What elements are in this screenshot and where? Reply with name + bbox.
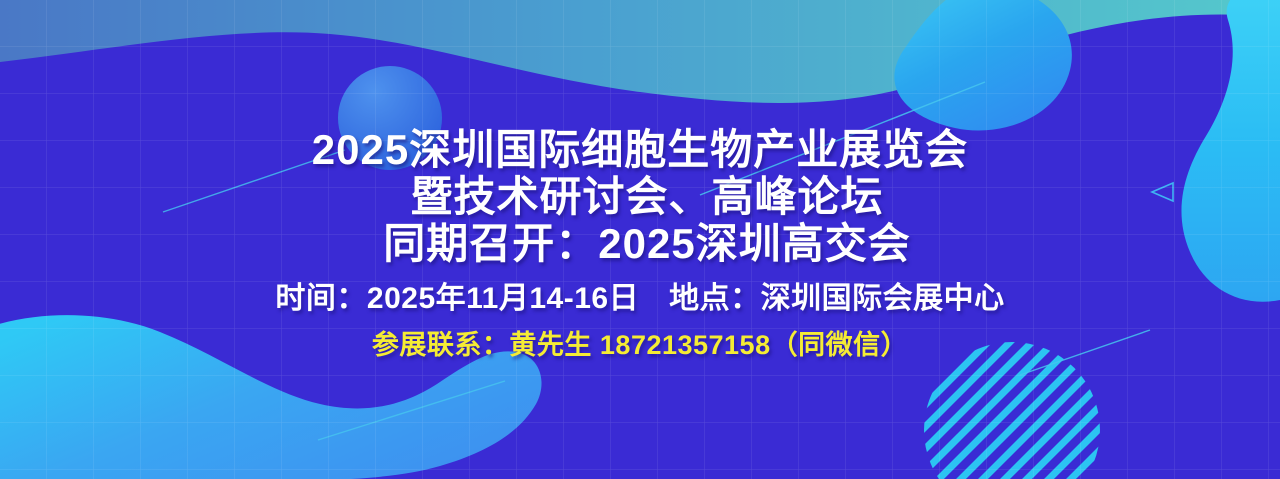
contact-line: 参展联系：黄先生 18721357158（同微信）	[372, 329, 908, 361]
venue-value: 深圳国际会展中心	[761, 282, 1005, 315]
title-block: 2025深圳国际细胞生物产业展览会 暨技术研讨会、高峰论坛 同期召开：2025深…	[0, 126, 1280, 267]
title-line-2: 暨技术研讨会、高峰论坛	[0, 173, 1280, 220]
contact-person: 黄先生	[509, 330, 592, 360]
contact-label: 参展联系：	[372, 330, 510, 360]
time-label: 时间：	[275, 282, 367, 315]
title-line-3: 同期召开：2025深圳高交会	[0, 220, 1280, 267]
event-meta-line: 时间：2025年11月14-16日地点：深圳国际会展中心	[275, 281, 1004, 317]
time-value: 2025年11月14-16日	[367, 282, 639, 315]
event-banner: 2025深圳国际细胞生物产业展览会 暨技术研讨会、高峰论坛 同期召开：2025深…	[0, 0, 1280, 479]
contact-space	[592, 330, 600, 360]
contact-phone: 18721357158	[600, 330, 771, 360]
banner-content: 2025深圳国际细胞生物产业展览会 暨技术研讨会、高峰论坛 同期召开：2025深…	[0, 0, 1280, 479]
title-line-1: 2025深圳国际细胞生物产业展览会	[0, 126, 1280, 173]
venue-label: 地点：	[669, 282, 761, 315]
contact-note: （同微信）	[771, 330, 909, 360]
